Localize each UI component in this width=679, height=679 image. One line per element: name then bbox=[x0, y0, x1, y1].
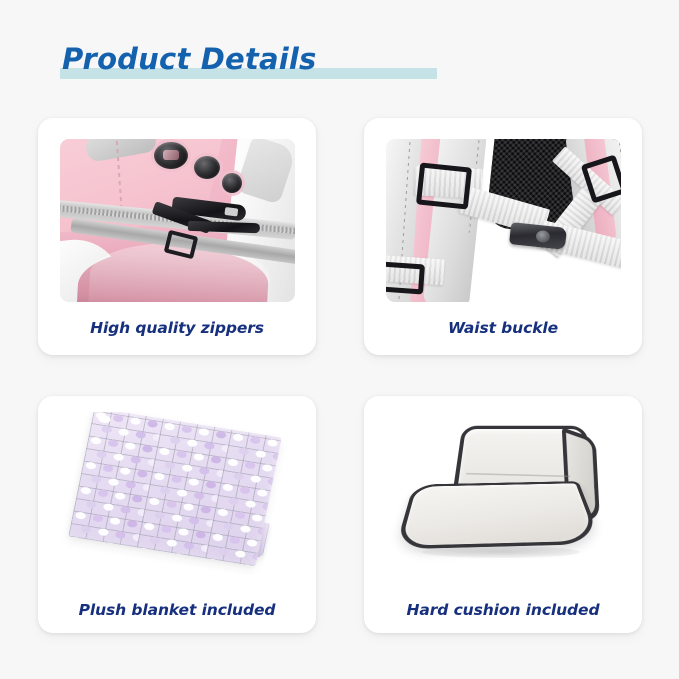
card-caption: High quality zippers bbox=[38, 319, 316, 355]
card-caption: Plush blanket included bbox=[38, 601, 316, 633]
hard-cushion-photo bbox=[382, 412, 624, 588]
card-caption: Hard cushion included bbox=[364, 601, 642, 633]
header: Product Details bbox=[60, 42, 316, 84]
page-title: Product Details bbox=[60, 42, 316, 76]
card-caption: Waist buckle bbox=[364, 319, 642, 355]
feature-card-grid: High quality zippers bbox=[38, 118, 642, 633]
waist-buckle-straps-photo bbox=[386, 139, 621, 302]
feature-card-plush-blanket[interactable]: Plush blanket included bbox=[38, 396, 316, 633]
page-title-wrap: Product Details bbox=[60, 42, 316, 76]
strap-adjuster-icon bbox=[386, 262, 425, 295]
product-details-infographic: Product Details bbox=[0, 0, 679, 679]
strap-adjuster-icon bbox=[415, 162, 471, 209]
vent-hole-icon bbox=[194, 156, 220, 179]
vent-hole-icon bbox=[222, 173, 242, 193]
feature-card-high-quality-zippers[interactable]: High quality zippers bbox=[38, 118, 316, 355]
waist-buckle-icon bbox=[509, 222, 567, 250]
vent-hole-icon bbox=[154, 142, 188, 169]
pink-pet-carrier-zipper-photo bbox=[60, 139, 295, 302]
feature-card-waist-buckle[interactable]: Waist buckle bbox=[364, 118, 642, 355]
feature-card-hard-cushion[interactable]: Hard cushion included bbox=[364, 396, 642, 633]
plush-blanket-photo bbox=[56, 412, 298, 588]
